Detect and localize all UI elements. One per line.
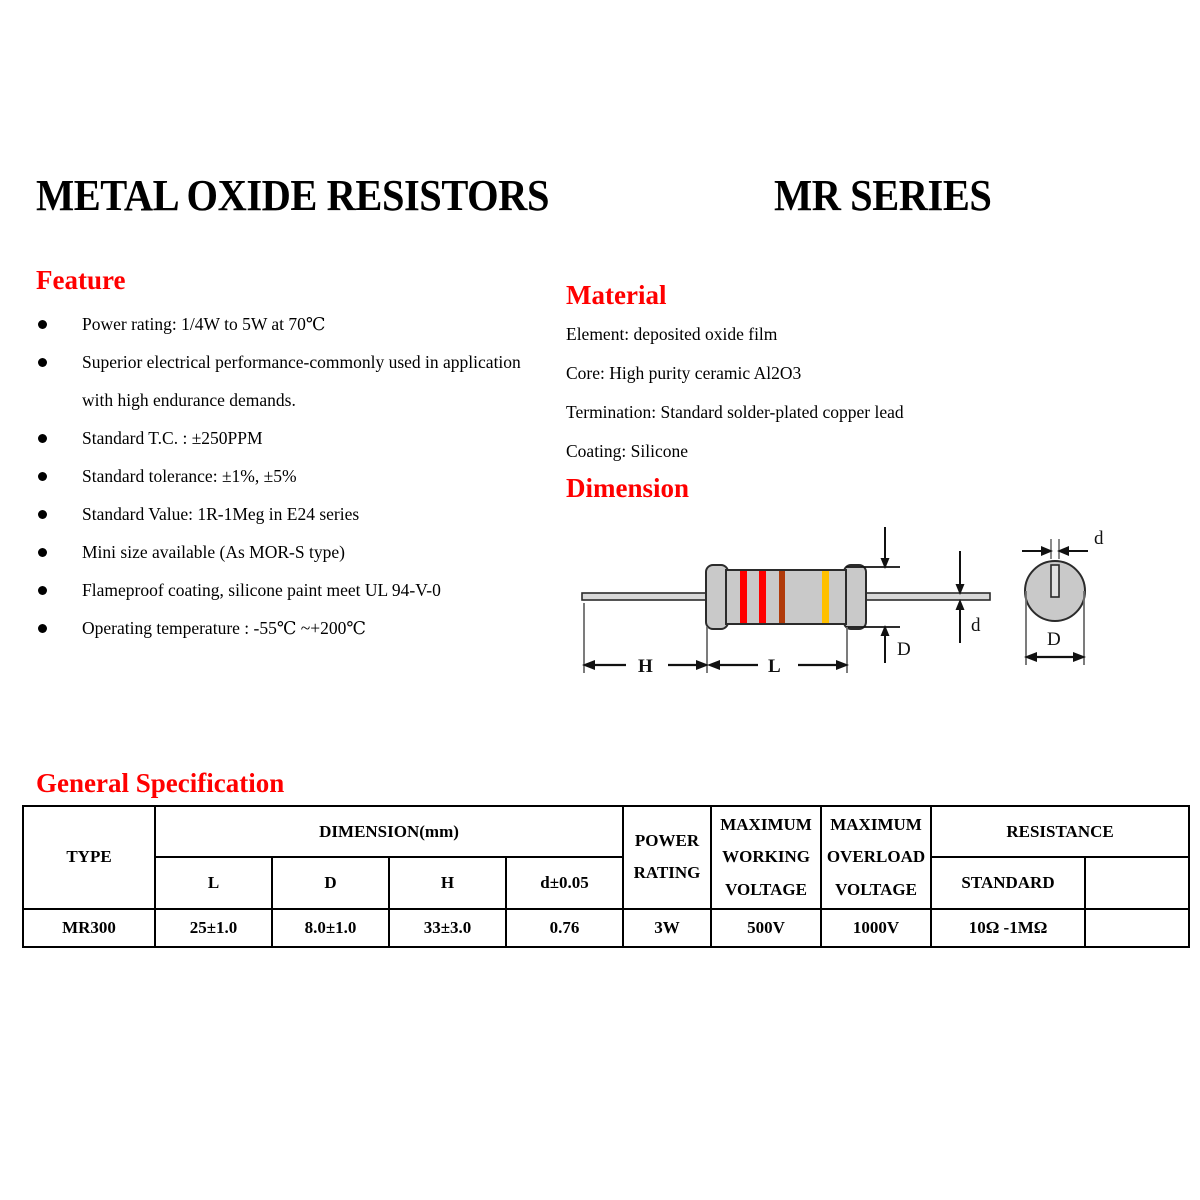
table-row: MR300 25±1.0 8.0±1.0 33±3.0 0.76 3W 500V… (23, 909, 1189, 947)
feature-item: Mini size available (As MOR-S type) (36, 533, 536, 571)
d-body-arrow-bottom (881, 625, 890, 663)
feature-list: Power rating: 1/4W to 5W at 70℃ Superior… (36, 305, 536, 647)
left-lead-wire (582, 593, 712, 600)
table-header-row-1: TYPE DIMENSION(mm) POWER RATING MAXIMUM … (23, 806, 1189, 857)
page-title: METAL OXIDE RESISTORS MR SERIES (36, 170, 1136, 221)
feature-item: Operating temperature : -55℃ ~+200℃ (36, 609, 536, 647)
cross-section-view: d D (1022, 528, 1104, 665)
feature-item-label: Standard tolerance: ±1%, ±5% (82, 466, 297, 486)
cell-power-rating: 3W (623, 909, 711, 947)
dimension-heading: Dimension (566, 473, 689, 504)
feature-item-label: Superior electrical performance-commonly… (82, 352, 521, 410)
feature-item: Standard T.C. : ±250PPM (36, 419, 536, 457)
header-type: TYPE (23, 806, 155, 909)
spec-heading: General Specification (36, 768, 284, 799)
d-body-arrow-top (881, 527, 890, 569)
d-lead-arrow-bottom (956, 599, 965, 643)
cell-overload-voltage: 1000V (821, 909, 931, 947)
material-heading: Material (566, 280, 666, 311)
bullet-icon (38, 320, 47, 329)
row-empty-cell (1085, 909, 1189, 947)
dim-label-D-body: D (897, 639, 911, 660)
color-band-3 (779, 571, 785, 623)
dim-label-L: L (768, 656, 781, 677)
bullet-icon (38, 434, 47, 443)
header-max-overload-voltage: MAXIMUM OVERLOAD VOLTAGE (821, 806, 931, 909)
header-resistance-group: RESISTANCE (931, 806, 1189, 857)
resistance-empty-cell (1085, 857, 1189, 908)
cell-resistance-range: 10Ω -1MΩ (931, 909, 1085, 947)
feature-item-label: Operating temperature : -55℃ ~+200℃ (82, 618, 366, 638)
cell-working-voltage: 500V (711, 909, 821, 947)
header-dim-L: L (155, 857, 272, 908)
general-specification-table: TYPE DIMENSION(mm) POWER RATING MAXIMUM … (22, 805, 1190, 948)
cell-length: 25±1.0 (155, 909, 272, 947)
dim-label-H: H (638, 656, 653, 677)
bullet-icon (38, 586, 47, 595)
bullet-icon (38, 358, 47, 367)
spec-table-container: TYPE DIMENSION(mm) POWER RATING MAXIMUM … (22, 805, 1188, 948)
table-header-row-2: L D H d±0.05 STANDARD (23, 857, 1189, 908)
right-end-cap (844, 565, 866, 629)
material-item: Core: High purity ceramic Al2O3 (566, 354, 1006, 393)
cell-diameter: 8.0±1.0 (272, 909, 389, 947)
cell-type: MR300 (23, 909, 155, 947)
color-band-1 (740, 571, 747, 623)
header-dimension-group: DIMENSION(mm) (155, 806, 623, 857)
title-main-text: METAL OXIDE RESISTORS (36, 170, 549, 221)
feature-item-label: Power rating: 1/4W to 5W at 70℃ (82, 314, 325, 334)
feature-item-label: Standard Value: 1R-1Meg in E24 series (82, 504, 359, 524)
feature-item: Flameproof coating, silicone paint meet … (36, 571, 536, 609)
feature-item: Standard tolerance: ±1%, ±5% (36, 457, 536, 495)
header-power-rating: POWER RATING (623, 806, 711, 909)
d-lead-arrow-top (956, 551, 965, 595)
feature-item: Superior electrical performance-commonly… (36, 343, 552, 419)
title-series-text: MR SERIES (774, 170, 991, 221)
bullet-icon (38, 472, 47, 481)
dim-label-d-cross: d (1094, 528, 1104, 549)
bullet-icon (38, 510, 47, 519)
material-item: Termination: Standard solder-plated copp… (566, 393, 1006, 432)
header-resistance-standard: STANDARD (931, 857, 1085, 908)
header-dim-D: D (272, 857, 389, 908)
header-dim-H: H (389, 857, 506, 908)
left-end-cap (706, 565, 728, 629)
color-band-4 (822, 571, 829, 623)
material-item: Element: deposited oxide film (566, 315, 1006, 354)
feature-item-label: Standard T.C. : ±250PPM (82, 428, 263, 448)
feature-item: Power rating: 1/4W to 5W at 70℃ (36, 305, 536, 343)
header-max-working-voltage: MAXIMUM WORKING VOLTAGE (711, 806, 821, 909)
right-lead-wire (858, 593, 990, 600)
bullet-icon (38, 624, 47, 633)
dim-label-d-lead: d (971, 615, 981, 636)
material-item: Coating: Silicone (566, 432, 1006, 471)
dimension-drawing: D d H L (560, 515, 1180, 695)
cell-lead-length: 33±3.0 (389, 909, 506, 947)
header-dim-d-tol: d±0.05 (506, 857, 623, 908)
material-list: Element: deposited oxide film Core: High… (566, 315, 1006, 471)
dim-label-D-cross: D (1047, 629, 1061, 650)
feature-item-label: Mini size available (As MOR-S type) (82, 542, 345, 562)
feature-item: Standard Value: 1R-1Meg in E24 series (36, 495, 536, 533)
color-band-2 (759, 571, 766, 623)
feature-item-label: Flameproof coating, silicone paint meet … (82, 580, 441, 600)
feature-heading: Feature (36, 265, 125, 296)
bullet-icon (38, 548, 47, 557)
cell-lead-diameter: 0.76 (506, 909, 623, 947)
